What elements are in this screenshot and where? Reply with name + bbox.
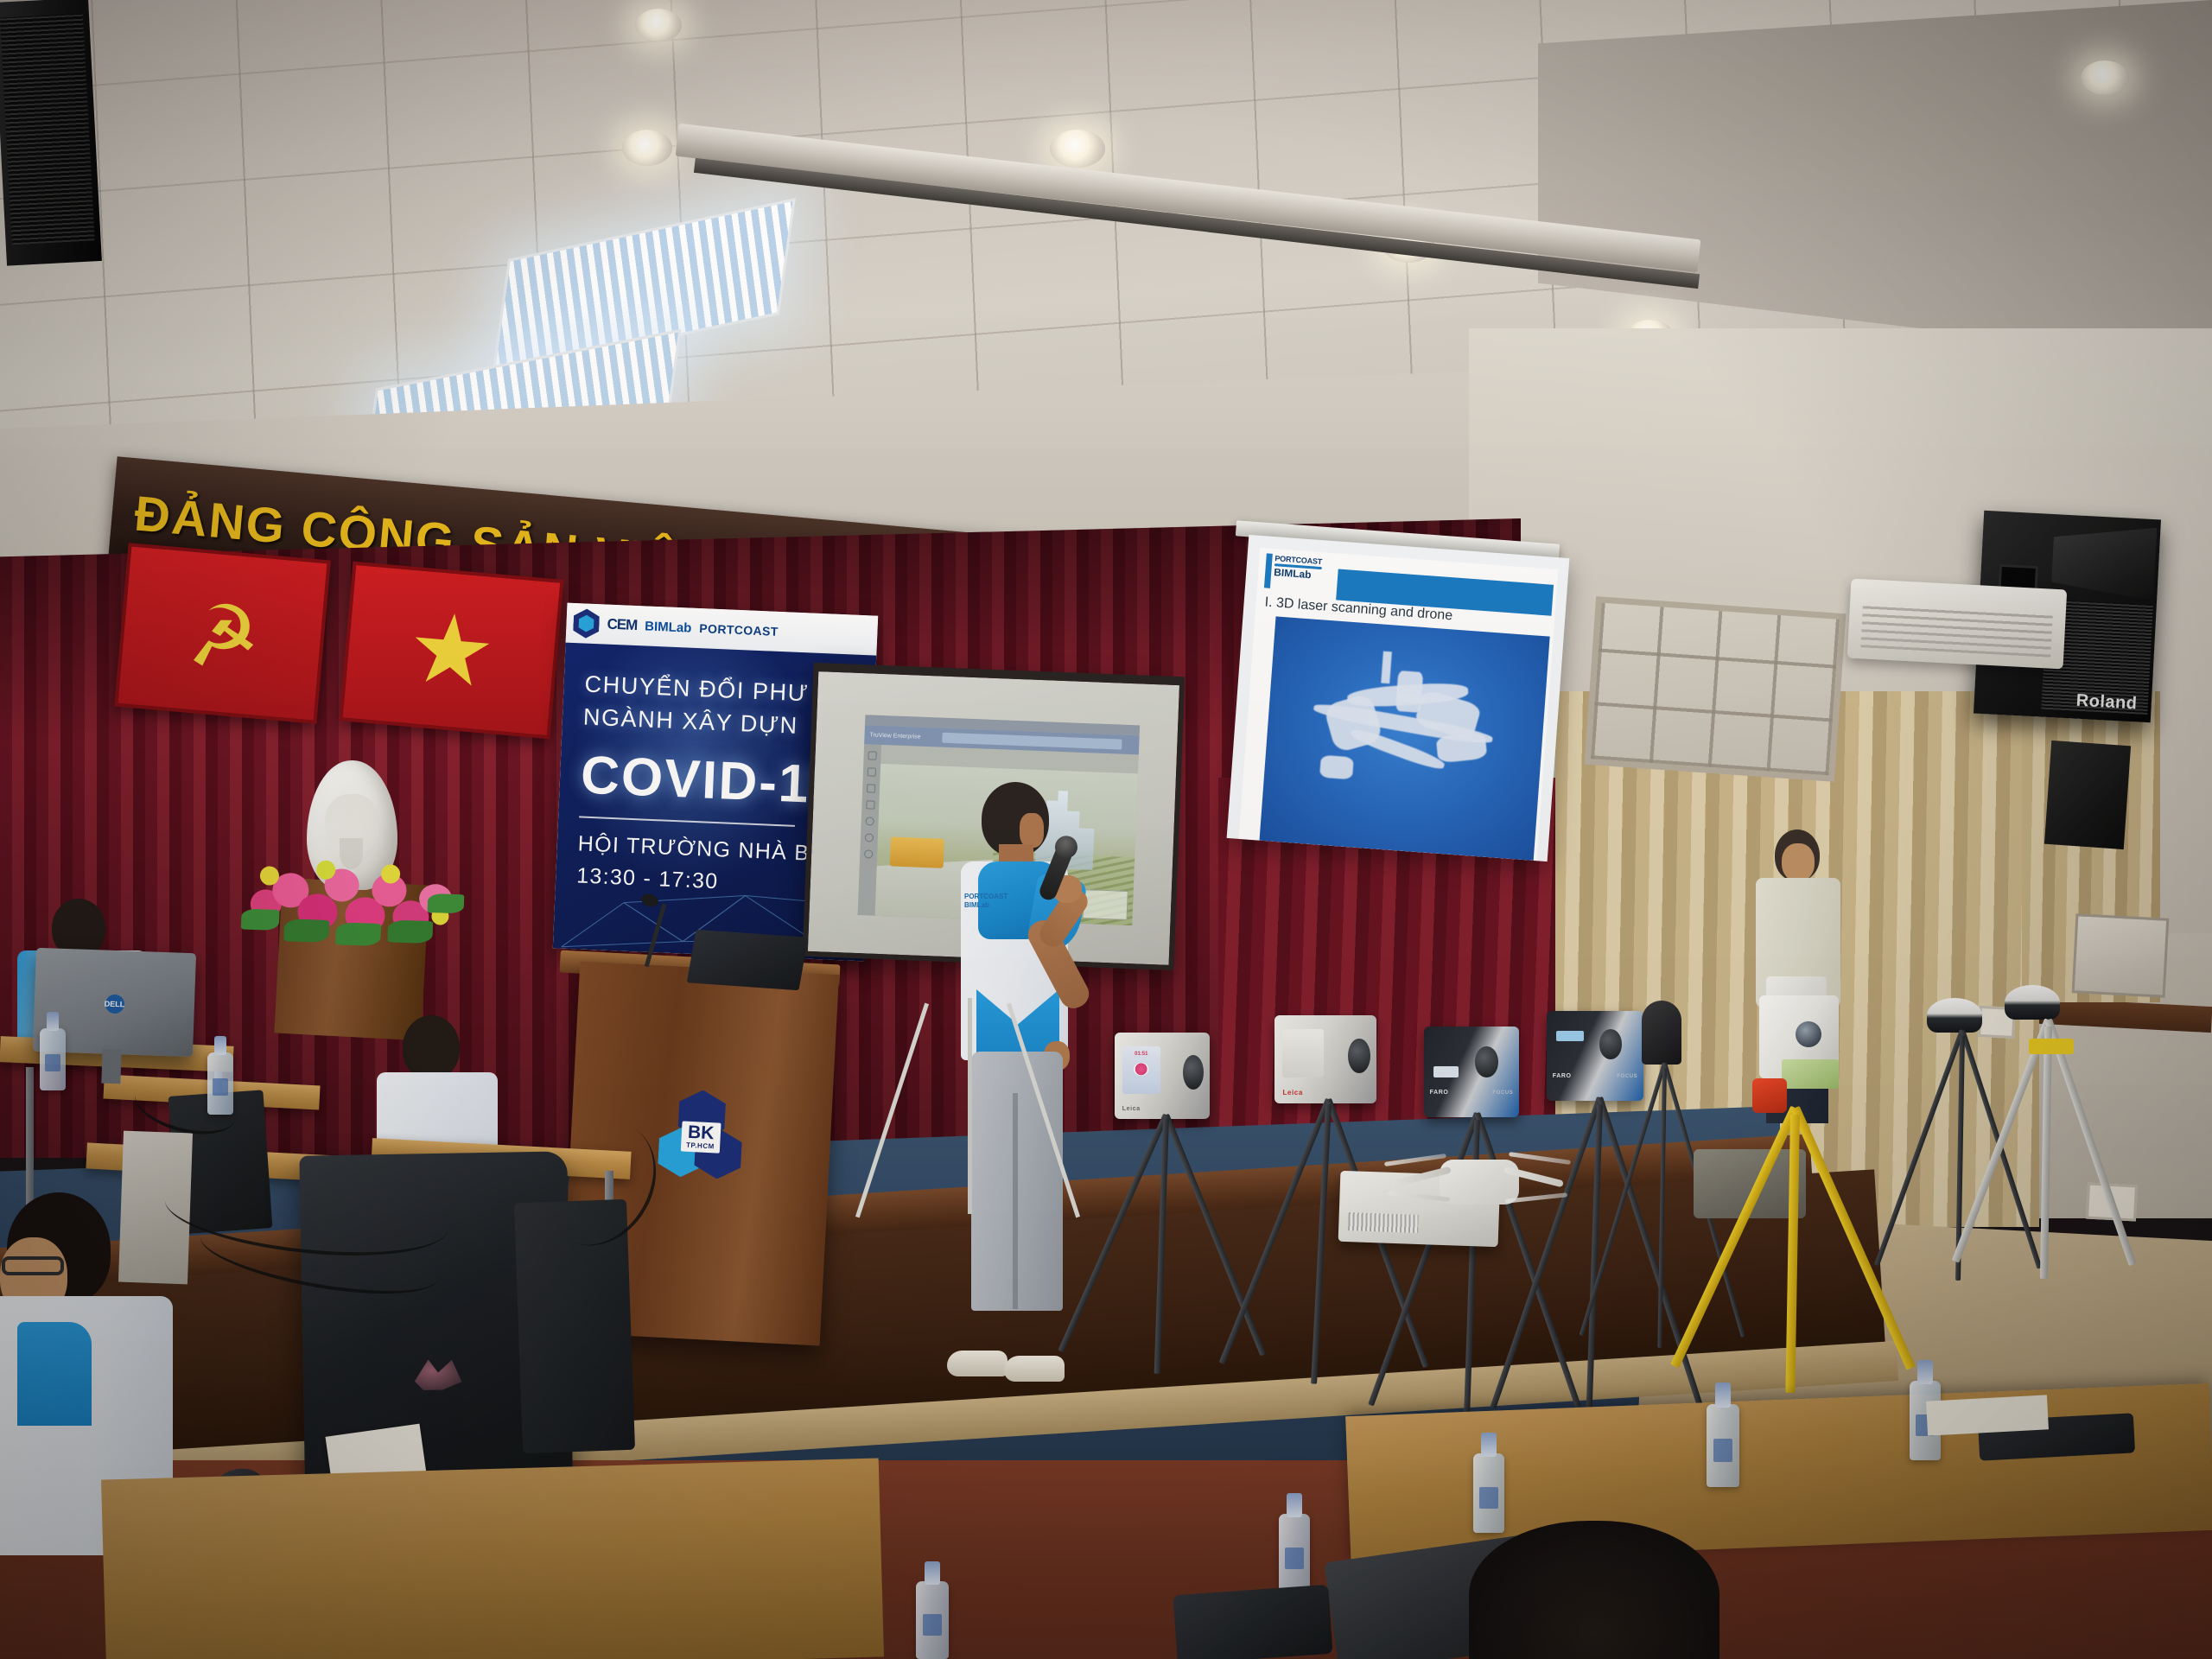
presenter-shirt-logo: PORTCOASTBIMLab: [964, 893, 1013, 922]
foreground-audience-head: [1469, 1521, 1719, 1659]
attendee-face: [1782, 843, 1815, 881]
scanner-leica-1: 01:51 Leica: [1115, 1033, 1210, 1119]
vietnam-flag-panel: [339, 562, 563, 740]
scanner-model-label: FOCUS: [1492, 1090, 1513, 1096]
presenter-shoe-right: [1004, 1356, 1065, 1382]
scanner-faro-1: FARO FOCUS: [1424, 1027, 1519, 1117]
presentation-slide: PORTCOAST BIMLab I. 3D laser scanning an…: [1239, 548, 1559, 861]
monitor-stand: [101, 1049, 121, 1084]
bk-logo-sub: TP.HCM: [686, 1141, 715, 1150]
bimlab-logo: BIMLab: [645, 619, 692, 635]
dji-drone: [1391, 1141, 1564, 1220]
ceiling-downlight: [635, 9, 682, 41]
scanner-brand-label: FARO: [1553, 1073, 1572, 1079]
right-projection-screen: PORTCOAST BIMLab I. 3D laser scanning an…: [1227, 535, 1570, 861]
logo-bar-icon: [1264, 553, 1273, 588]
flower-arrangement: [245, 848, 464, 955]
scanner-brand-label: Leica: [1282, 1089, 1302, 1096]
scanner-sticker: [1433, 1066, 1459, 1077]
portcoast-logo: PORTCOAST: [699, 621, 779, 639]
scanner-slam-device: [1642, 1001, 1681, 1065]
annotate-icon[interactable]: [865, 817, 874, 825]
attendee-head: [403, 1015, 460, 1079]
roland-brand-label: Roland: [2075, 690, 2138, 714]
total-station-keypad[interactable]: [1782, 1059, 1839, 1089]
bk-hcmut-logo-icon: [573, 608, 600, 639]
eyeglasses-icon: [2, 1256, 64, 1275]
water-bottle[interactable]: [1707, 1404, 1739, 1487]
scanner-brand-label: Leica: [1122, 1106, 1141, 1112]
ceiling-downlight: [622, 130, 672, 166]
water-bottle[interactable]: [916, 1581, 949, 1659]
slide-pointcloud-image: [1260, 616, 1550, 861]
scanner-sticker: [1556, 1031, 1583, 1041]
ceiling-downlight: [2081, 60, 2129, 95]
communist-party-flag-panel: ☭: [114, 543, 331, 724]
drone-propeller: [1384, 1154, 1446, 1166]
scanner-record-indicator: [1134, 1063, 1149, 1075]
scanner-lens-icon: [1599, 1029, 1623, 1059]
slide-logo-bimlab: BIMLab: [1274, 567, 1322, 582]
wall-air-conditioner: [1847, 579, 2067, 670]
bk-logo-label: BK TP.HCM: [681, 1121, 721, 1153]
speaker-horn: [2050, 522, 2157, 601]
water-bottle[interactable]: [1279, 1514, 1310, 1593]
technician-shirt-blue-panel: [17, 1322, 92, 1426]
presenter-leg-gap: [1013, 1093, 1018, 1309]
tripod-4: [1557, 1097, 1643, 1426]
podium-laptop[interactable]: [687, 930, 809, 990]
scanner-lens-icon: [1183, 1055, 1204, 1090]
front-conference-table-left: [101, 1458, 884, 1659]
gnss-antenna: [1927, 998, 1982, 1033]
drone-propeller: [1509, 1152, 1571, 1165]
pano-yellow-container: [890, 837, 944, 868]
gnss-tripod-2: [1996, 1020, 2108, 1279]
ceiling-downlight: [1050, 130, 1105, 168]
conference-hall-photo: ĐẢNG CỘNG SẢN VIỆT NAM QUANG VINH MUÔN N…: [0, 0, 2212, 1659]
pin-icon[interactable]: [865, 833, 874, 842]
scanner-brand-label: FARO: [1430, 1090, 1449, 1096]
presenter-shoe-left: [947, 1351, 1007, 1376]
scanner-display[interactable]: 01:51: [1122, 1046, 1160, 1094]
total-station-lens-icon: [1796, 1021, 1821, 1047]
water-bottle[interactable]: [40, 1028, 66, 1090]
gnss-antenna: [2005, 985, 2060, 1020]
rog-logo-icon: [410, 1357, 464, 1392]
cem-logo: CEM: [607, 616, 638, 634]
scanner-lens-icon: [1475, 1046, 1497, 1077]
scanner-lens-icon: [1348, 1039, 1370, 1074]
gnss-receiver-1: [1927, 998, 1982, 1033]
measure-icon[interactable]: [866, 800, 874, 809]
seated-attendee-middle: [372, 1015, 527, 1145]
truview-search-field[interactable]: [942, 733, 1122, 750]
settings-icon[interactable]: [864, 849, 873, 858]
small-wall-speaker: [2044, 741, 2131, 849]
water-bottle[interactable]: [1473, 1453, 1504, 1533]
dell-logo-icon: DELL: [105, 995, 124, 1014]
left-pa-speaker: [0, 0, 102, 266]
scanner-display[interactable]: [1282, 1029, 1323, 1077]
paper-document: [1926, 1395, 2049, 1435]
bk-logo-main: BK: [686, 1123, 715, 1142]
layers-icon[interactable]: [868, 751, 876, 760]
scanner-leica-2: Leica: [1274, 1015, 1376, 1103]
window-mullions: [1591, 603, 1840, 776]
electrical-panel: [2072, 913, 2170, 998]
speaker-grille: [0, 14, 95, 245]
tripod-1: [1123, 1115, 1210, 1374]
camera-icon[interactable]: [867, 784, 875, 792]
right-window: [1585, 596, 1847, 782]
scanner-timer: 01:51: [1122, 1052, 1160, 1057]
presenter: PORTCOASTBIMLab: [942, 782, 1097, 1361]
tripod-clamp: [2029, 1039, 2074, 1054]
scanner-faro-2: FARO FOCUS: [1547, 1011, 1643, 1101]
gnss-receiver-2: [2005, 985, 2060, 1020]
portcoast-bimlab-logo: PORTCOAST BIMLab: [1264, 553, 1334, 596]
scanner-model-label: FOCUS: [1617, 1074, 1637, 1079]
screen-tripod-leg: [968, 998, 972, 1214]
tripod-5: [1642, 1063, 1687, 1348]
truview-app-name: TruView Enterprise: [869, 732, 920, 740]
copy-icon[interactable]: [868, 767, 876, 776]
vr-headset[interactable]: [1173, 1585, 1332, 1659]
bk-hcmut-podium-logo: BK TP.HCM: [657, 1088, 744, 1182]
banner-divider: [579, 816, 795, 826]
yellow-tripod: [1728, 1108, 1866, 1393]
hammer-sickle-icon: ☭: [183, 593, 262, 679]
ac-grille: [1860, 603, 2052, 658]
